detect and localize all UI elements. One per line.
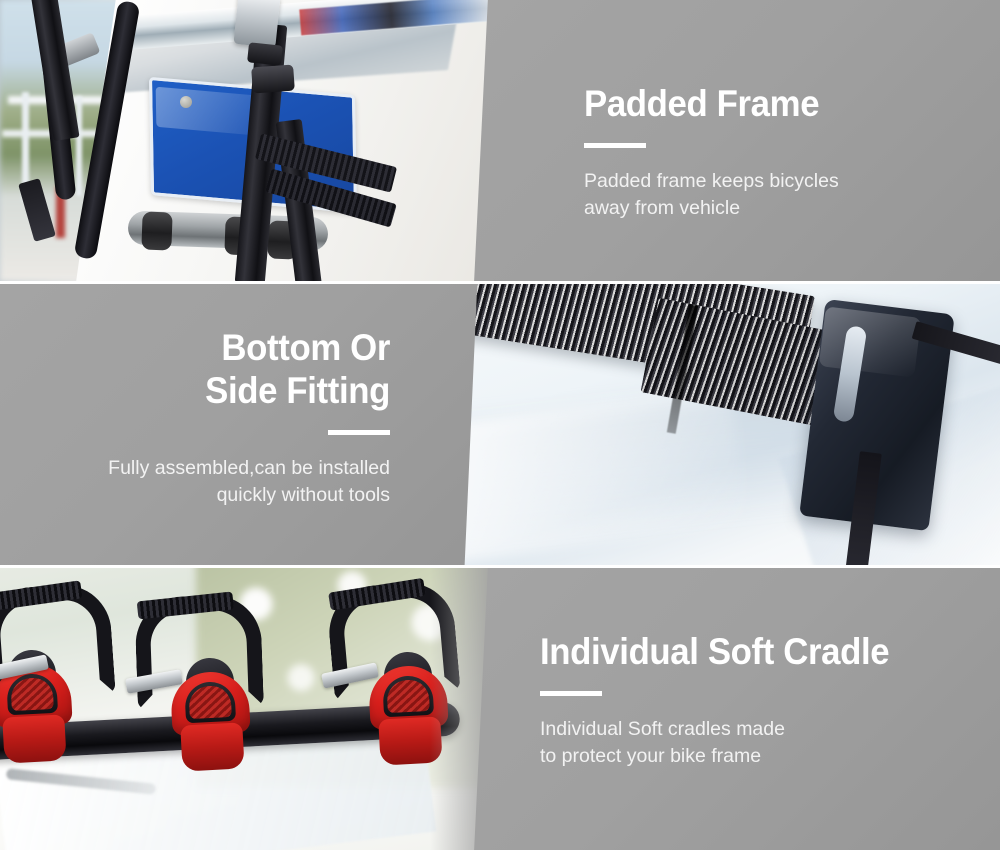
feature-band-bottom-or-side-fitting: Bottom Or Side Fitting Fully assembled,c…: [0, 284, 1000, 565]
feature-subtext-bottom-or-side-fitting: Fully assembled,can be installed quickly…: [0, 455, 390, 509]
car-rear-strap-photo: [0, 0, 500, 281]
background-post-second: [76, 96, 82, 196]
buckle-body: [247, 42, 283, 65]
feature-photo-bottom-or-side-fitting: [460, 284, 1000, 565]
strap-clip: [251, 65, 295, 94]
feature-infographic: Padded Frame Padded frame keeps bicycles…: [0, 0, 1000, 850]
feature-text-panel-padded-frame: Padded Frame Padded frame keeps bicycles…: [472, 0, 1000, 281]
feature-text-panel-bottom-or-side-fitting: Bottom Or Side Fitting Fully assembled,c…: [0, 284, 486, 565]
feature-band-padded-frame: Padded Frame Padded frame keeps bicycles…: [0, 0, 1000, 281]
plate-screw: [180, 96, 192, 108]
feature-text-block: Individual Soft Cradle Individual Soft c…: [540, 630, 970, 770]
feature-subtext-individual-soft-cradle: Individual Soft cradles made to protect …: [540, 716, 970, 770]
feature-headline-individual-soft-cradle: Individual Soft Cradle: [540, 630, 944, 673]
rack-bar-cap: [141, 211, 172, 250]
headline-underline-rule: [328, 430, 390, 435]
hook-gloss: [819, 306, 922, 377]
feature-photo-individual-soft-cradle: [0, 568, 500, 850]
red-cradles-photo: [0, 568, 500, 850]
cradle-foot: [180, 722, 244, 771]
feature-text-block: Padded Frame Padded frame keeps bicycles…: [584, 82, 964, 222]
feature-band-individual-soft-cradle: Individual Soft Cradle Individual Soft c…: [0, 568, 1000, 850]
feature-subtext-padded-frame: Padded frame keeps bicycles away from ve…: [584, 168, 964, 222]
strap-hook-closeup-photo: [460, 284, 1000, 565]
feature-text-block: Bottom Or Side Fitting Fully assembled,c…: [0, 326, 390, 509]
feature-headline-bottom-or-side-fitting: Bottom Or Side Fitting: [14, 326, 390, 412]
soft-cradle: [170, 670, 253, 770]
feature-text-panel-individual-soft-cradle: Individual Soft Cradle Individual Soft c…: [472, 568, 1000, 850]
headline-underline-rule: [584, 143, 646, 148]
chrome-cam-buckle: [233, 0, 280, 48]
car-panel-gloss: [460, 384, 748, 564]
headline-underline-rule: [540, 691, 602, 696]
feature-photo-padded-frame: [0, 0, 500, 281]
cradle-foot: [2, 714, 66, 763]
feature-headline-padded-frame: Padded Frame: [584, 82, 941, 125]
